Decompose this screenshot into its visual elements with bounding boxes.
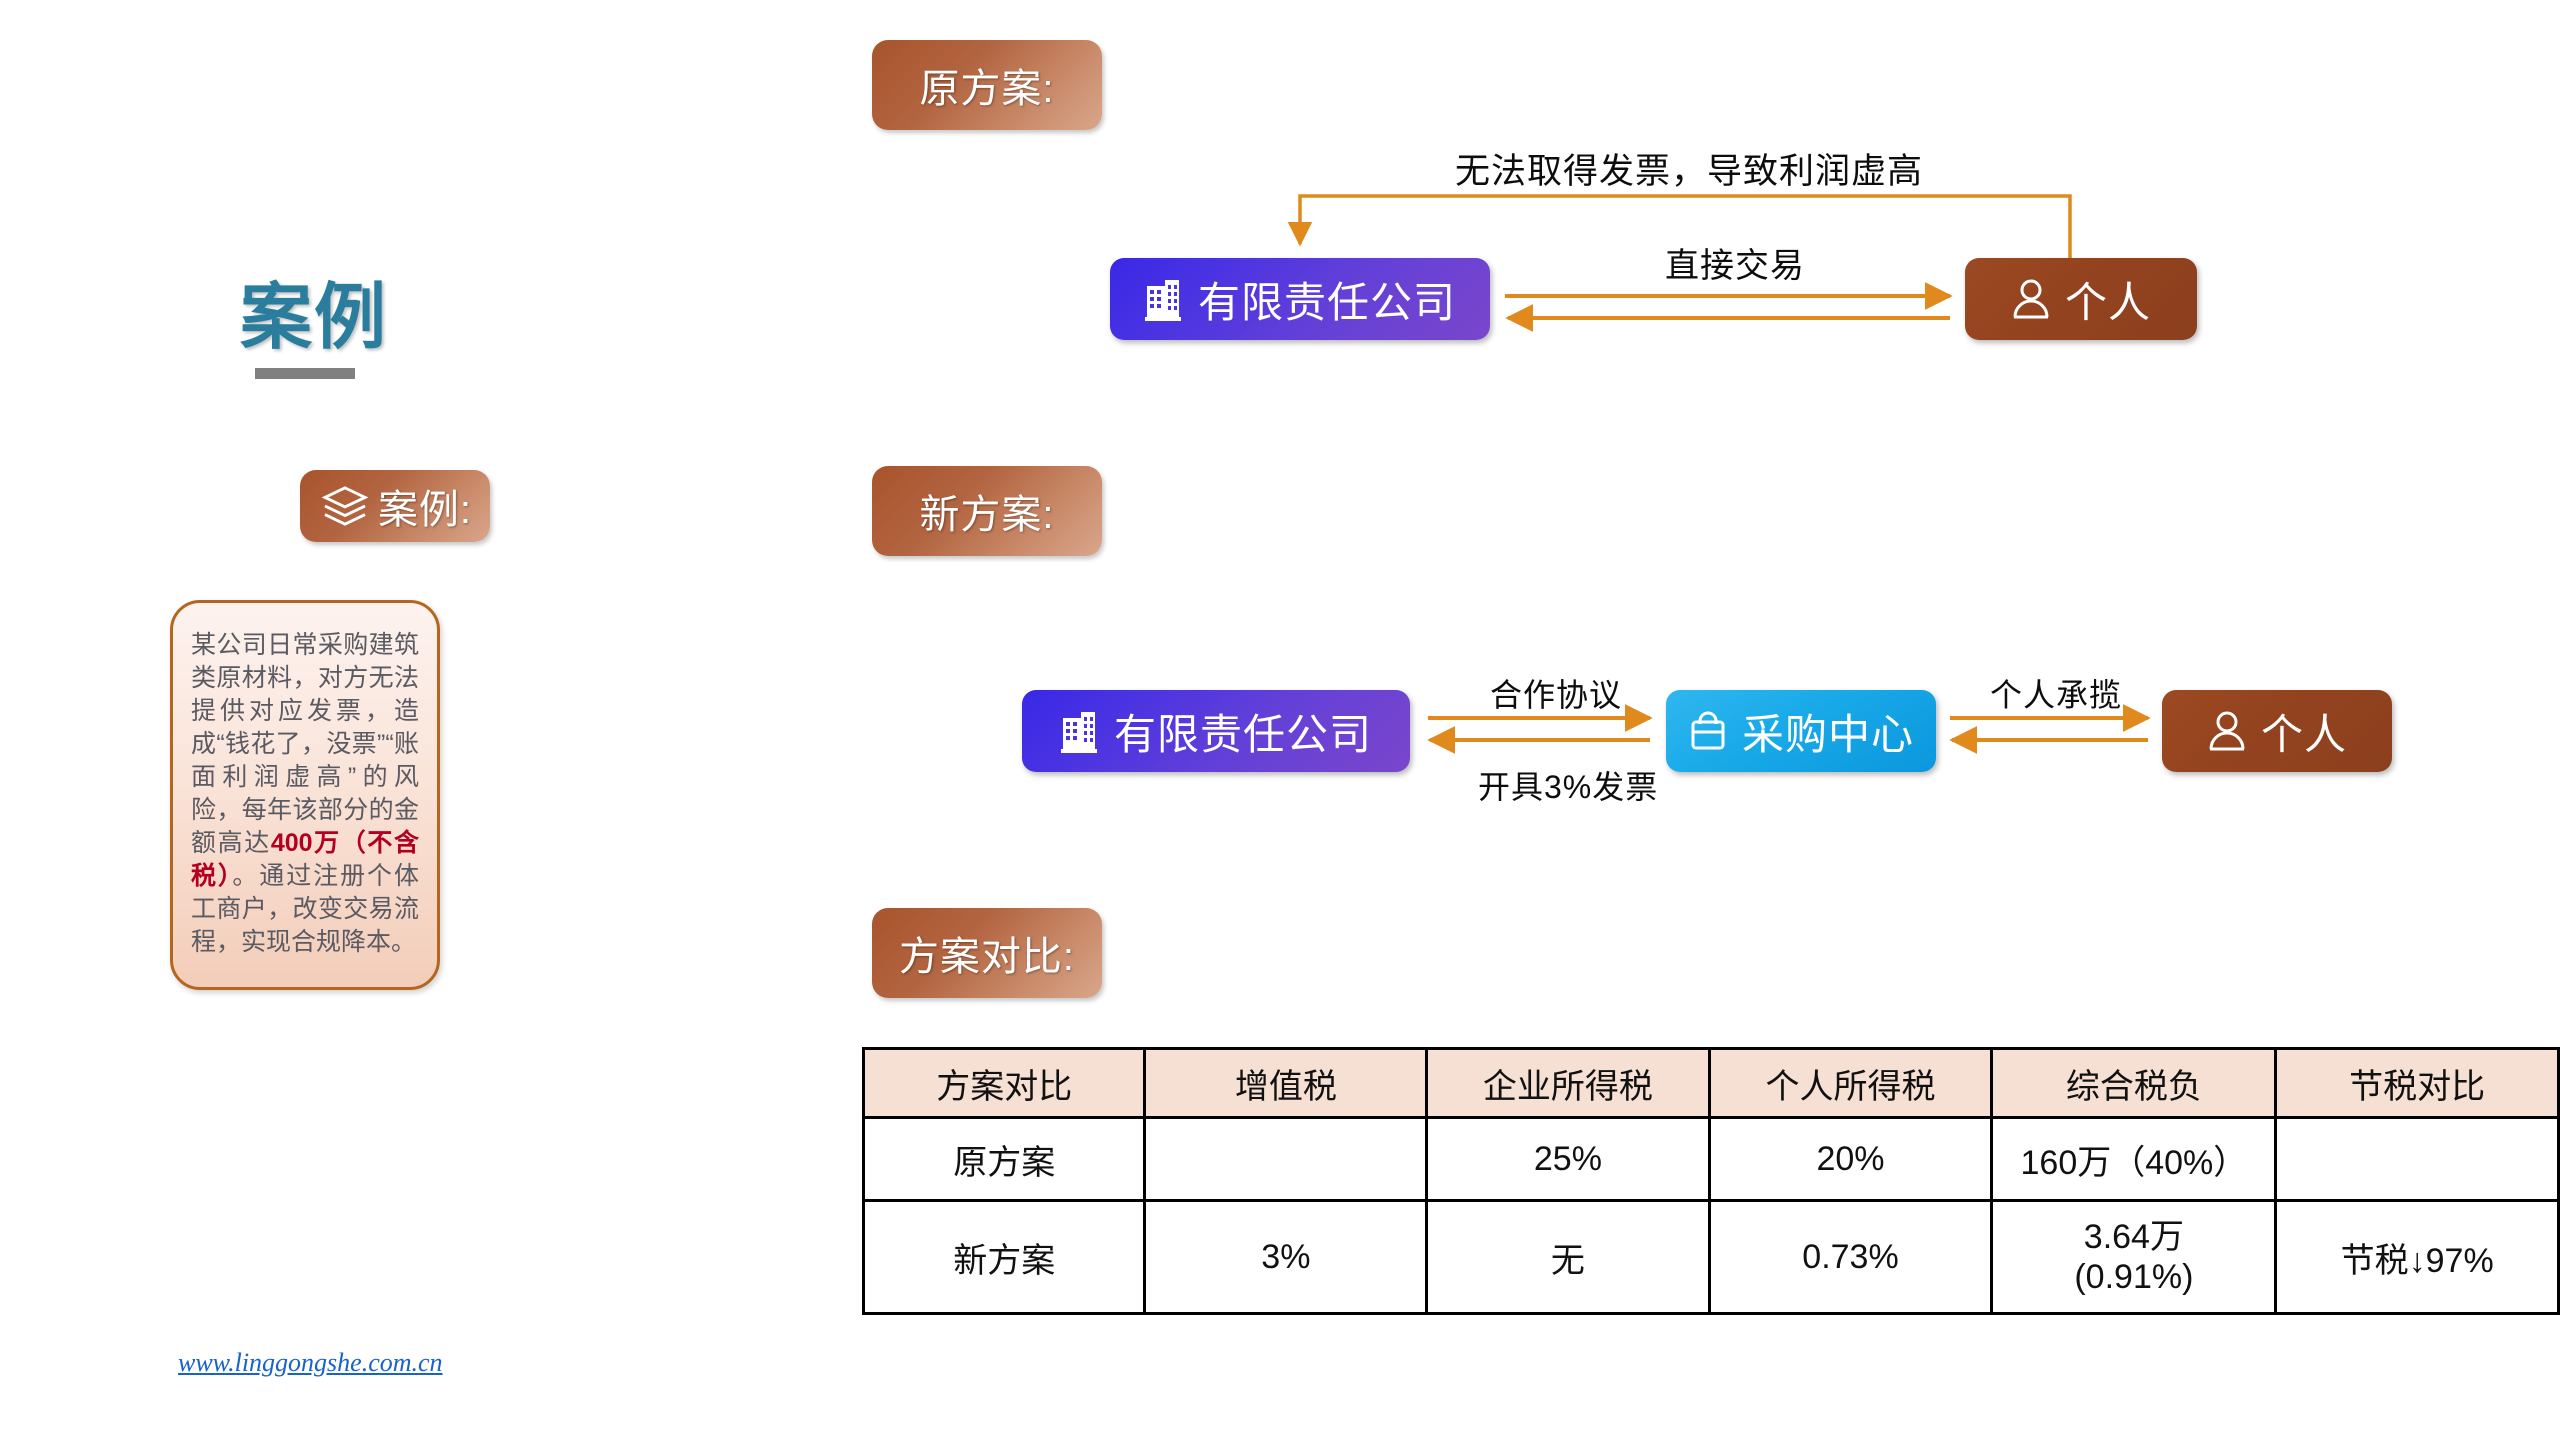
website-link[interactable]: www.linggongshe.com.cn	[178, 1348, 443, 1378]
node-procurement-center: 采购中心	[1666, 690, 1936, 772]
scheme-comparison-table: 方案对比 增值税 企业所得税 个人所得税 综合税负 节税对比 原方案 25% 2…	[862, 1047, 2560, 1315]
node-company-original: 有限责任公司	[1110, 258, 1490, 340]
user-icon	[2011, 277, 2051, 321]
table-cell-corporate-tax: 无	[1427, 1201, 1709, 1314]
table-cell-personal-tax: 0.73%	[1709, 1201, 1992, 1314]
badge-case-label: 案例:	[378, 477, 472, 535]
node-person-new-label: 个人	[2261, 701, 2347, 762]
badge-new-scheme: 新方案:	[872, 466, 1102, 556]
total-burden-line-2: (0.91%)	[1999, 1257, 2268, 1297]
table-row: 原方案 25% 20% 160万（40%）	[864, 1118, 2559, 1201]
edge-label-direct-trade: 直接交易	[1665, 238, 1805, 287]
building-icon	[1144, 276, 1184, 322]
node-person-original-label: 个人	[2065, 269, 2151, 330]
table-cell-scheme-name: 新方案	[864, 1201, 1145, 1314]
table-cell-total-burden: 3.64万 (0.91%)	[1992, 1201, 2276, 1314]
table-cell-personal-tax: 20%	[1709, 1118, 1992, 1201]
edge-label-personal-undertaking: 个人承揽	[1990, 670, 2122, 716]
node-procurement-center-label: 采购中心	[1742, 701, 1914, 762]
badge-original-scheme: 原方案:	[872, 40, 1102, 130]
case-description-card: 某公司日常采购建筑类原材料，对方无法提供对应发票，造成“钱花了，没票”“账面利润…	[170, 600, 440, 990]
shopping-bag-icon	[1688, 708, 1728, 754]
table-cell-saving: 节税↓97%	[2276, 1201, 2559, 1314]
node-company-new: 有限责任公司	[1022, 690, 1410, 772]
node-company-new-label: 有限责任公司	[1114, 701, 1372, 762]
edge-label-cooperation-agreement: 合作协议	[1490, 670, 1622, 716]
title-underline-rule	[255, 368, 355, 379]
table-cell-vat: 3%	[1145, 1201, 1427, 1314]
table-cell-vat	[1145, 1118, 1427, 1201]
badge-scheme-comparison: 方案对比:	[872, 908, 1102, 998]
table-cell-scheme-name: 原方案	[864, 1118, 1145, 1201]
edge-label-issue-invoice: 开具3%发票	[1478, 762, 1658, 808]
edge-label-no-invoice: 无法取得发票，导致利润虚高	[1455, 143, 1923, 194]
table-header-cell: 方案对比	[864, 1049, 1145, 1118]
table-header-row: 方案对比 增值税 企业所得税 个人所得税 综合税负 节税对比	[864, 1049, 2559, 1118]
user-icon	[2207, 709, 2247, 753]
table-header-cell: 企业所得税	[1427, 1049, 1709, 1118]
left-panel: 案例 案例: 某公司日常采购建筑类原材料，对方无法提供对应发票，造成“钱花了，没…	[0, 0, 820, 1440]
table-header-cell: 综合税负	[1992, 1049, 2276, 1118]
page-title: 案例	[240, 258, 388, 363]
total-burden-line-1: 3.64万	[1999, 1217, 2268, 1257]
table-header-cell: 增值税	[1145, 1049, 1427, 1118]
node-person-original: 个人	[1965, 258, 2197, 340]
node-person-new: 个人	[2162, 690, 2392, 772]
case-description-text: 某公司日常采购建筑类原材料，对方无法提供对应发票，造成“钱花了，没票”“账面利润…	[191, 629, 419, 959]
table-header-cell: 个人所得税	[1709, 1049, 1992, 1118]
table-cell-total-burden: 160万（40%）	[1992, 1118, 2276, 1201]
table-row: 新方案 3% 无 0.73% 3.64万 (0.91%) 节税↓97%	[864, 1201, 2559, 1314]
table-cell-corporate-tax: 25%	[1427, 1118, 1709, 1201]
badge-original-scheme-label: 原方案:	[919, 56, 1054, 114]
badge-case: 案例:	[300, 470, 490, 542]
node-company-original-label: 有限责任公司	[1198, 269, 1456, 330]
table-cell-saving	[2276, 1118, 2559, 1201]
layers-icon	[322, 485, 368, 527]
case-text-before: 某公司日常采购建筑类原材料，对方无法提供对应发票，造成“钱花了，没票”“账面利润…	[191, 631, 419, 857]
table-header-cell: 节税对比	[2276, 1049, 2559, 1118]
building-icon	[1060, 708, 1100, 754]
badge-new-scheme-label: 新方案:	[919, 482, 1054, 540]
badge-scheme-comparison-label: 方案对比:	[899, 924, 1075, 982]
